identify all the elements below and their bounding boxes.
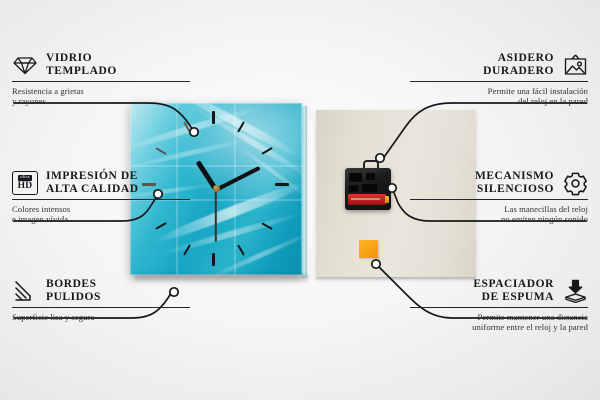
foam-spacer-icon [562, 278, 588, 304]
clock-tick-10 [155, 147, 167, 155]
mechanism-slot [349, 173, 362, 182]
feature-title: BORDES PULIDOS [46, 278, 101, 303]
feature-header: BORDES PULIDOS [12, 278, 190, 304]
glass-seam [130, 165, 302, 167]
feature-header: MECANISMO SILENCIOSO [410, 170, 588, 196]
diamond-icon [12, 52, 38, 78]
divider [410, 81, 588, 82]
feature-title: ESPACIADOR DE ESPUMA [473, 278, 554, 303]
gear-icon [562, 170, 588, 196]
feature-header: ASIDERO DURADERO [410, 52, 588, 78]
feature-title: VIDRIO TEMPLADO [46, 52, 117, 77]
clock-tick-6 [212, 253, 215, 266]
battery [348, 194, 386, 205]
divider [410, 307, 588, 308]
clock-tick-11 [183, 121, 191, 133]
glass-seam [234, 103, 236, 275]
feature-impresion-alta-calidad[interactable]: ultra HD IMPRESIÓN DE ALTA CALIDAD Color… [12, 170, 190, 224]
minute-hand [215, 166, 260, 192]
clock-tick-7 [183, 244, 191, 256]
polished-edges-icon [12, 278, 38, 304]
feature-header: ESPACIADOR DE ESPUMA [410, 278, 588, 304]
ultra-hd-icon: ultra HD [12, 170, 38, 196]
second-hand [215, 190, 217, 242]
divider [12, 307, 190, 308]
feature-title: MECANISMO SILENCIOSO [475, 170, 554, 195]
wall-hanger-icon [562, 52, 588, 78]
hand-cap [213, 185, 220, 192]
feather-streak [234, 142, 311, 199]
glass-edge [302, 106, 307, 278]
feature-title: ASIDERO DURADERO [483, 52, 554, 77]
feature-subtitle: Resistencia a grietas y rayones [12, 86, 190, 107]
clock-tick-4 [261, 222, 273, 230]
mechanism-slot [366, 173, 375, 180]
foam-spacer [359, 240, 378, 258]
feature-subtitle: Colores intensos e imagen vívida [12, 204, 190, 225]
feature-asidero-duradero[interactable]: ASIDERO DURADERO Permite una fácil insta… [410, 52, 588, 106]
clock-tick-5 [237, 244, 245, 256]
feature-header: ultra HD IMPRESIÓN DE ALTA CALIDAD [12, 170, 190, 196]
feature-bordes-pulidos[interactable]: BORDES PULIDOS Superficie lisa y segura [12, 278, 190, 322]
feather-streak [118, 103, 263, 154]
feature-espaciador-de-espuma[interactable]: ESPACIADOR DE ESPUMA Permite mantener un… [410, 278, 588, 332]
feature-title: IMPRESIÓN DE ALTA CALIDAD [46, 170, 139, 195]
divider [410, 199, 588, 200]
clock-tick-1 [237, 121, 245, 133]
mechanism-slot [349, 185, 358, 192]
feature-subtitle: Permite mantener una distancia uniforme … [410, 312, 588, 333]
mechanism-slot [362, 184, 377, 192]
clock-tick-12 [212, 111, 215, 124]
feature-vidrio-templado[interactable]: VIDRIO TEMPLADO Resistencia a grietas y … [12, 52, 190, 106]
infographic-canvas: VIDRIO TEMPLADO Resistencia a grietas y … [0, 0, 600, 400]
clock-tick-3 [275, 183, 289, 186]
divider [12, 81, 190, 82]
feature-header: VIDRIO TEMPLADO [12, 52, 190, 78]
clock-tick-2 [261, 147, 273, 155]
divider [12, 199, 190, 200]
battery-band [351, 198, 380, 200]
feature-subtitle: Las manecillas del reloj no emiten ningú… [410, 204, 588, 225]
feature-subtitle: Superficie lisa y segura [12, 312, 190, 322]
feature-subtitle: Permite una fácil instalación del reloj … [410, 86, 588, 107]
feature-mecanismo-silencioso[interactable]: MECANISMO SILENCIOSO Las manecillas del … [410, 170, 588, 224]
